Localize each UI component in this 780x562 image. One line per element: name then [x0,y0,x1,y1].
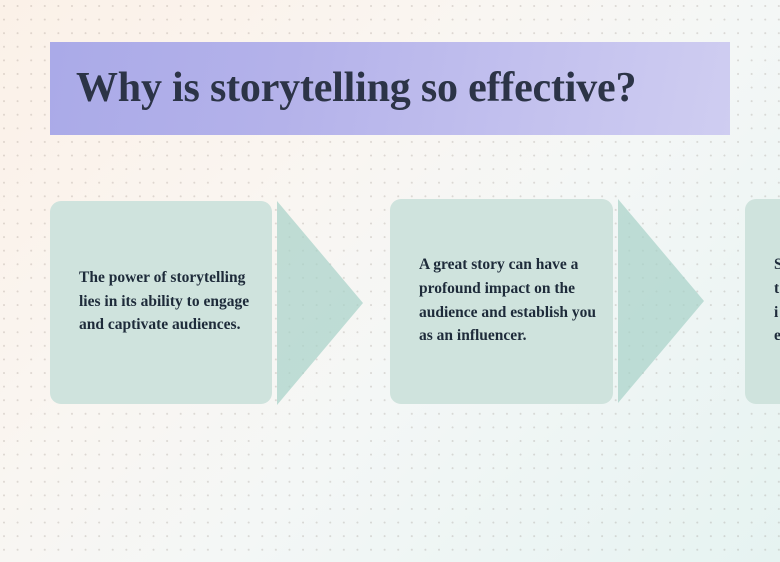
slide-title-banner: Why is storytelling so effective? [50,42,730,135]
info-card-3[interactable]: S t i e [745,199,780,404]
arrow-right-icon-2 [618,199,704,403]
info-card-3-text: S t i e [745,253,780,347]
info-card-2[interactable]: A great story can have a profound impact… [390,199,613,404]
info-card-2-text: A great story can have a profound impact… [390,253,613,347]
info-card-1[interactable]: The power of storytelling lies in its ab… [50,201,272,404]
arrow-right-icon-1 [277,201,363,405]
info-card-1-text: The power of storytelling lies in its ab… [50,266,272,337]
presentation-slide: Why is storytelling so effective? The po… [0,0,780,562]
page-title: Why is storytelling so effective? [50,66,636,110]
